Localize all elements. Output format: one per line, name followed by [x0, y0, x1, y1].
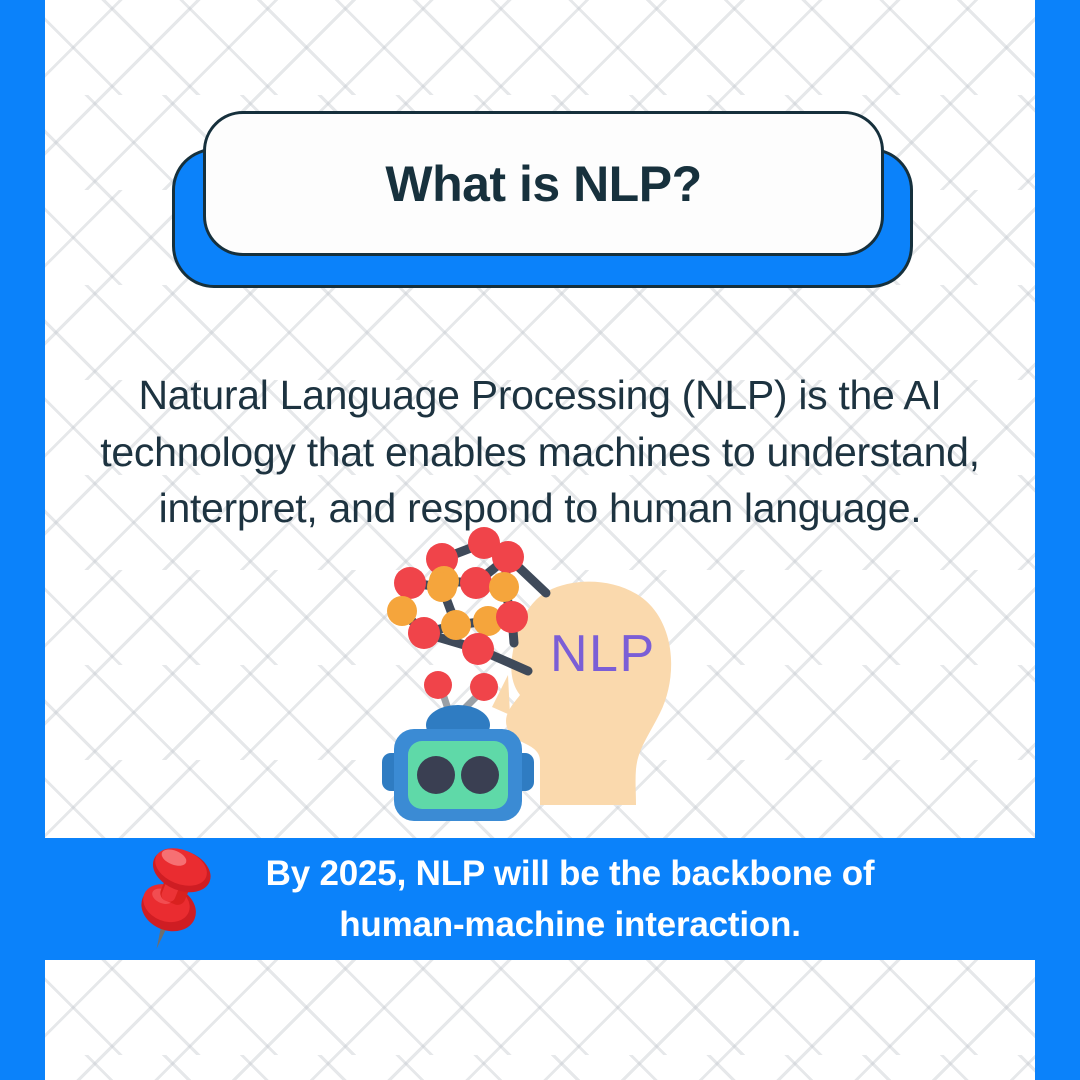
- poster-canvas: What is NLP? Natural Language Processing…: [0, 0, 1080, 1080]
- illustration-svg: NLP: [380, 525, 690, 825]
- quote-line-1: By 2025, NLP will be the backbone of: [266, 854, 875, 893]
- quote-line-2: human-machine interaction.: [339, 905, 801, 944]
- content-card-bottom: [45, 960, 1035, 1080]
- robot-icon: [382, 671, 534, 821]
- quote-banner: By 2025, NLP will be the backbone of hum…: [0, 838, 1080, 960]
- title-badge: What is NLP?: [172, 111, 914, 289]
- quote-text: By 2025, NLP will be the backbone of hum…: [190, 848, 950, 951]
- title-badge-panel: What is NLP?: [203, 111, 884, 256]
- illustration-nlp-label: NLP: [550, 625, 656, 683]
- body-paragraph: Natural Language Processing (NLP) is the…: [60, 367, 1020, 537]
- page-title: What is NLP?: [385, 159, 701, 209]
- nlp-brain-robot-head-illustration: NLP: [380, 525, 690, 825]
- pushpin-icon: [120, 845, 225, 955]
